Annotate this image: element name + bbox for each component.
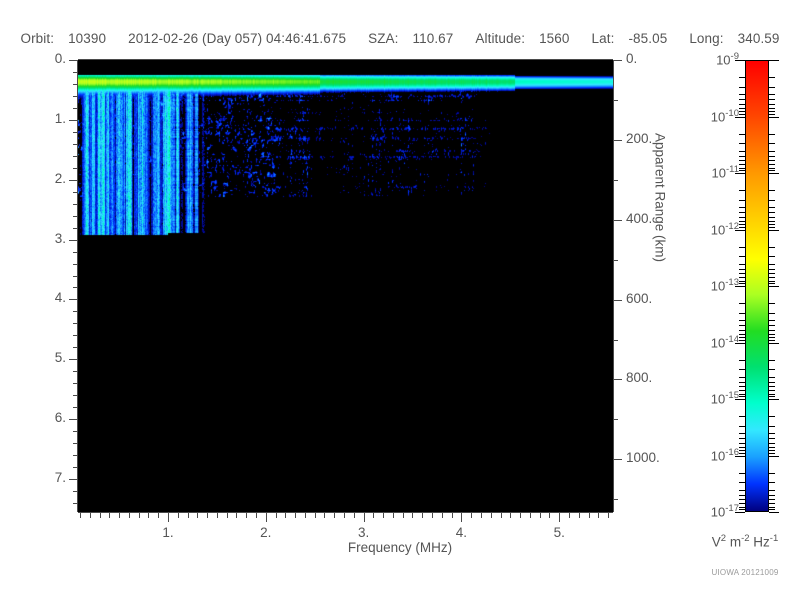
x-minor-tick — [80, 513, 81, 518]
colorbar-minor-tick-left — [739, 217, 745, 218]
x-minor-tick — [442, 513, 443, 518]
colorbar-minor-tick — [769, 482, 775, 483]
colorbar-minor-tick — [769, 200, 775, 201]
colorbar-minor-tick — [769, 503, 775, 504]
y-tick-label: 3. — [16, 231, 66, 246]
colorbar-minor-tick-left — [739, 77, 745, 78]
colorbar-minor-tick-left — [739, 394, 745, 395]
colorbar-major-tick — [769, 230, 779, 231]
x-minor-tick — [217, 513, 218, 518]
colorbar-minor-tick-left — [739, 433, 745, 434]
colorbar-minor-tick — [769, 114, 775, 115]
colorbar-minor-tick — [769, 382, 775, 383]
x-major-tick — [461, 513, 462, 522]
colorbar-minor-tick — [769, 269, 775, 270]
colorbar-minor-tick-left — [739, 221, 745, 222]
colorbar-major-tick — [769, 286, 779, 287]
colorbar-minor-tick-left — [739, 396, 745, 397]
y-minor-tick — [73, 323, 78, 324]
colorbar-minor-tick-left — [739, 325, 745, 326]
long-value: 340.59 — [738, 31, 780, 46]
colorbar-major-tick — [769, 117, 779, 118]
x-minor-tick — [148, 513, 149, 518]
colorbar-minor-tick — [769, 156, 775, 157]
colorbar-minor-tick — [769, 433, 775, 434]
colorbar-minor-tick-left — [739, 450, 745, 451]
colorbar-minor-tick-left — [739, 426, 745, 427]
x-minor-tick — [383, 513, 384, 518]
colorbar-minor-tick — [769, 277, 775, 278]
x-minor-tick — [139, 513, 140, 518]
colorbar-minor-tick-left — [739, 360, 745, 361]
colorbar-minor-tick — [769, 340, 775, 341]
y-major-tick — [69, 60, 78, 61]
colorbar-minor-tick-left — [739, 330, 745, 331]
y-tick-label: 0. — [16, 51, 66, 66]
colorbar-minor-tick — [769, 168, 775, 169]
x-minor-tick — [598, 513, 599, 518]
colorbar-tick-label: 10-14 — [683, 334, 739, 350]
x-minor-tick — [246, 513, 247, 518]
ionogram-figure: Orbit: 10390 2012-02-26 (Day 057) 04:46:… — [0, 0, 800, 600]
y-major-tick — [69, 299, 78, 300]
x-minor-tick — [432, 513, 433, 518]
colorbar-minor-tick — [769, 143, 775, 144]
x-minor-tick — [90, 513, 91, 518]
colorbar-minor-tick — [769, 394, 775, 395]
colorbar-minor-tick — [769, 247, 775, 248]
y-major-tick — [69, 479, 78, 480]
x-minor-tick — [197, 513, 198, 518]
y-minor-tick — [73, 467, 78, 468]
y2-major-tick — [613, 300, 622, 301]
y-minor-tick — [73, 264, 78, 265]
colorbar-minor-tick — [769, 447, 775, 448]
x-minor-tick — [452, 513, 453, 518]
colorbar-minor-tick-left — [739, 507, 745, 508]
x-minor-tick — [549, 513, 550, 518]
y-minor-tick — [73, 84, 78, 85]
colorbar-minor-tick — [769, 450, 775, 451]
x-minor-tick — [315, 513, 316, 518]
colorbar-tick-label: 10-16 — [683, 447, 739, 463]
colorbar-minor-tick — [769, 77, 775, 78]
colorbar-tick-label: 10-11 — [683, 164, 739, 180]
plot-border-top — [78, 59, 613, 60]
colorbar-minor-tick-left — [739, 499, 745, 500]
y-minor-tick — [73, 491, 78, 492]
colorbar-tick-label: 10-13 — [683, 277, 739, 293]
colorbar-minor-tick — [769, 256, 775, 257]
y-minor-tick — [73, 276, 78, 277]
colorbar-major-tick — [769, 173, 779, 174]
y2-major-tick — [613, 220, 622, 221]
colorbar-gradient — [746, 61, 768, 511]
colorbar-minor-tick — [769, 264, 775, 265]
colorbar-minor-tick — [769, 221, 775, 222]
colorbar-minor-tick-left — [739, 94, 745, 95]
x-minor-tick — [510, 513, 511, 518]
y2-axis-label: Apparent Range (km) — [653, 98, 668, 298]
x-minor-tick — [334, 513, 335, 518]
colorbar-minor-tick-left — [739, 227, 745, 228]
y-minor-tick — [73, 72, 78, 73]
colorbar-minor-tick-left — [739, 438, 745, 439]
colorbar-minor-tick-left — [739, 104, 745, 105]
y-minor-tick — [73, 96, 78, 97]
x-minor-tick — [178, 513, 179, 518]
colorbar-major-tick — [769, 399, 779, 400]
colorbar-unit-label: V2 m-2 Hz-1 — [690, 533, 800, 550]
x-minor-tick — [295, 513, 296, 518]
colorbar-minor-tick-left — [739, 273, 745, 274]
x-minor-tick — [579, 513, 580, 518]
x-minor-tick — [324, 513, 325, 518]
colorbar-tick-label: 10-10 — [683, 108, 739, 124]
colorbar-minor-tick-left — [739, 200, 745, 201]
y-minor-tick — [73, 287, 78, 288]
x-minor-tick — [393, 513, 394, 518]
colorbar-minor-tick-left — [739, 313, 745, 314]
colorbar-minor-tick-left — [739, 108, 745, 109]
colorbar-minor-tick — [769, 443, 775, 444]
y2-tick-label: 600. — [626, 291, 652, 306]
colorbar-minor-tick — [769, 453, 775, 454]
x-minor-tick — [403, 513, 404, 518]
colorbar-minor-tick — [769, 104, 775, 105]
colorbar-minor-tick — [769, 320, 775, 321]
colorbar-minor-tick-left — [739, 269, 745, 270]
x-tick-label: 1. — [148, 525, 188, 540]
colorbar-minor-tick — [769, 360, 775, 361]
y-tick-label: 4. — [16, 290, 66, 305]
x-minor-tick — [520, 513, 521, 518]
colorbar-minor-tick — [769, 509, 775, 510]
colorbar-minor-tick-left — [739, 156, 745, 157]
y2-tick-label: 1000. — [626, 450, 660, 465]
colorbar-minor-tick — [769, 473, 775, 474]
colorbar-minor-tick-left — [739, 281, 745, 282]
y2-major-tick — [613, 459, 622, 460]
y2-minor-tick — [613, 180, 618, 181]
y-minor-tick — [73, 311, 78, 312]
y-minor-tick — [73, 108, 78, 109]
x-minor-tick — [491, 513, 492, 518]
x-minor-tick — [501, 513, 502, 518]
x-minor-tick — [344, 513, 345, 518]
colorbar-minor-tick — [769, 217, 775, 218]
x-minor-tick — [236, 513, 237, 518]
colorbar-major-tick — [769, 456, 779, 457]
colorbar-minor-tick — [769, 490, 775, 491]
colorbar-minor-tick — [769, 99, 775, 100]
x-minor-tick — [276, 513, 277, 518]
colorbar-minor-tick-left — [739, 320, 745, 321]
colorbar-minor-tick-left — [739, 87, 745, 88]
x-minor-tick — [540, 513, 541, 518]
datetime-value: 2012-02-26 (Day 057) 04:46:41.675 — [128, 31, 346, 46]
colorbar-minor-tick-left — [739, 160, 745, 161]
colorbar-minor-tick — [769, 334, 775, 335]
y-minor-tick — [73, 371, 78, 372]
x-tick-label: 3. — [344, 525, 384, 540]
colorbar-minor-tick-left — [739, 143, 745, 144]
colorbar-minor-tick — [769, 273, 775, 274]
colorbar-minor-tick — [769, 426, 775, 427]
colorbar-minor-tick — [769, 313, 775, 314]
plot-border-left — [77, 60, 78, 512]
y-tick-label: 5. — [16, 350, 66, 365]
colorbar-minor-tick-left — [739, 224, 745, 225]
colorbar-minor-tick-left — [739, 247, 745, 248]
y-minor-tick — [73, 431, 78, 432]
colorbar-minor-tick-left — [739, 447, 745, 448]
y2-major-tick — [613, 140, 622, 141]
colorbar-minor-tick-left — [739, 473, 745, 474]
colorbar-minor-tick — [769, 330, 775, 331]
colorbar-minor-tick-left — [739, 168, 745, 169]
x-major-tick — [559, 513, 560, 522]
y-minor-tick — [73, 335, 78, 336]
x-minor-tick — [530, 513, 531, 518]
colorbar-minor-tick — [769, 190, 775, 191]
orbit-value: 10390 — [68, 31, 106, 46]
colorbar-tick-label: 10-12 — [683, 221, 739, 237]
colorbar-minor-tick — [769, 227, 775, 228]
x-minor-tick — [569, 513, 570, 518]
colorbar-minor-tick-left — [739, 482, 745, 483]
ionogram-heatmap — [78, 60, 613, 512]
y-minor-tick — [73, 156, 78, 157]
x-tick-label: 5. — [539, 525, 579, 540]
x-major-tick — [266, 513, 267, 522]
x-major-tick — [364, 513, 365, 522]
colorbar-minor-tick — [769, 151, 775, 152]
colorbar-tick-label: 10-15 — [683, 390, 739, 406]
colorbar-minor-tick — [769, 164, 775, 165]
colorbar-minor-tick-left — [739, 114, 745, 115]
altitude-label: Altitude: — [475, 31, 525, 46]
colorbar-minor-tick — [769, 94, 775, 95]
colorbar-minor-tick — [769, 111, 775, 112]
lat-label: Lat: — [592, 31, 615, 46]
colorbar-minor-tick — [769, 212, 775, 213]
x-minor-tick — [100, 513, 101, 518]
x-minor-tick — [422, 513, 423, 518]
x-minor-tick — [119, 513, 120, 518]
colorbar-major-tick — [769, 343, 779, 344]
x-minor-tick — [373, 513, 374, 518]
colorbar-minor-tick-left — [739, 443, 745, 444]
colorbar-minor-tick-left — [739, 337, 745, 338]
colorbar-minor-tick-left — [739, 416, 745, 417]
colorbar-minor-tick-left — [739, 134, 745, 135]
y-minor-tick — [73, 216, 78, 217]
colorbar-minor-tick-left — [739, 164, 745, 165]
y-minor-tick — [73, 443, 78, 444]
colorbar-minor-tick-left — [739, 303, 745, 304]
colorbar-minor-tick-left — [739, 386, 745, 387]
y2-minor-tick — [613, 100, 618, 101]
colorbar-minor-tick — [769, 390, 775, 391]
colorbar-minor-tick — [769, 507, 775, 508]
colorbar-minor-tick — [769, 108, 775, 109]
colorbar-minor-tick-left — [739, 151, 745, 152]
y-major-tick — [69, 180, 78, 181]
y-tick-label: 6. — [16, 410, 66, 425]
colorbar-minor-tick-left — [739, 277, 745, 278]
sza-value: 110.67 — [413, 31, 454, 46]
y-tick-label: 2. — [16, 171, 66, 186]
x-minor-tick — [109, 513, 110, 518]
x-tick-label: 2. — [246, 525, 286, 540]
y2-tick-label: 200. — [626, 131, 652, 146]
colorbar-minor-tick-left — [739, 377, 745, 378]
x-minor-tick — [481, 513, 482, 518]
y2-minor-tick — [613, 260, 618, 261]
colorbar-minor-tick-left — [739, 509, 745, 510]
colorbar-minor-tick — [769, 369, 775, 370]
colorbar-minor-tick-left — [739, 503, 745, 504]
y-minor-tick — [73, 455, 78, 456]
y2-tick-label: 400. — [626, 211, 652, 226]
colorbar-minor-tick-left — [739, 340, 745, 341]
y-major-tick — [69, 359, 78, 360]
colorbar-minor-tick-left — [739, 256, 745, 257]
x-minor-tick — [354, 513, 355, 518]
colorbar-minor-tick — [769, 495, 775, 496]
colorbar — [745, 60, 769, 512]
y-minor-tick — [73, 252, 78, 253]
colorbar-minor-tick-left — [739, 190, 745, 191]
colorbar-minor-tick — [769, 283, 775, 284]
colorbar-minor-tick — [769, 134, 775, 135]
x-minor-tick — [412, 513, 413, 518]
y-minor-tick — [73, 228, 78, 229]
long-label: Long: — [689, 31, 723, 46]
x-major-tick — [168, 513, 169, 522]
x-minor-tick — [227, 513, 228, 518]
colorbar-minor-tick — [769, 224, 775, 225]
colorbar-minor-tick-left — [739, 111, 745, 112]
y2-minor-tick — [613, 499, 618, 500]
y-minor-tick — [73, 407, 78, 408]
x-minor-tick — [256, 513, 257, 518]
colorbar-major-tick — [769, 512, 779, 513]
colorbar-minor-tick-left — [739, 264, 745, 265]
colorbar-minor-tick-left — [739, 334, 745, 335]
y-major-tick — [69, 419, 78, 420]
y-minor-tick — [73, 395, 78, 396]
x-axis-label: Frequency (MHz) — [0, 540, 800, 555]
x-minor-tick — [305, 513, 306, 518]
figure-header: Orbit: 10390 2012-02-26 (Day 057) 04:46:… — [0, 28, 800, 48]
credit-label: UIOWA 20121009 — [690, 568, 800, 577]
orbit-label: Orbit: — [20, 31, 54, 46]
y-minor-tick — [73, 503, 78, 504]
y-minor-tick — [73, 347, 78, 348]
x-minor-tick — [608, 513, 609, 518]
colorbar-tick-label: 10-17 — [683, 503, 739, 519]
colorbar-minor-tick-left — [739, 390, 745, 391]
y-tick-label: 7. — [16, 470, 66, 485]
colorbar-minor-tick — [769, 160, 775, 161]
y-minor-tick — [73, 132, 78, 133]
x-minor-tick — [471, 513, 472, 518]
colorbar-minor-tick-left — [739, 170, 745, 171]
y2-tick-label: 800. — [626, 370, 652, 385]
y-minor-tick — [73, 192, 78, 193]
colorbar-minor-tick — [769, 377, 775, 378]
y-minor-tick — [73, 144, 78, 145]
plot-border-right — [613, 60, 614, 512]
sza-label: SZA: — [368, 31, 398, 46]
colorbar-minor-tick — [769, 170, 775, 171]
y-minor-tick — [73, 383, 78, 384]
colorbar-minor-tick-left — [739, 99, 745, 100]
y2-tick-label: 0. — [626, 51, 637, 66]
ionogram-plot-area — [78, 60, 613, 512]
x-minor-tick — [129, 513, 130, 518]
y2-minor-tick — [613, 340, 618, 341]
y-major-tick — [69, 120, 78, 121]
colorbar-minor-tick — [769, 499, 775, 500]
colorbar-minor-tick — [769, 337, 775, 338]
colorbar-minor-tick-left — [739, 453, 745, 454]
colorbar-minor-tick-left — [739, 495, 745, 496]
colorbar-major-tick — [769, 60, 779, 61]
colorbar-minor-tick — [769, 281, 775, 282]
x-tick-label: 4. — [441, 525, 481, 540]
x-minor-tick — [207, 513, 208, 518]
x-minor-tick — [285, 513, 286, 518]
colorbar-minor-tick — [769, 386, 775, 387]
y-minor-tick — [73, 168, 78, 169]
colorbar-minor-tick — [769, 87, 775, 88]
colorbar-minor-tick-left — [739, 490, 745, 491]
x-minor-tick — [188, 513, 189, 518]
colorbar-minor-tick-left — [739, 382, 745, 383]
colorbar-minor-tick — [769, 396, 775, 397]
colorbar-minor-tick-left — [739, 212, 745, 213]
colorbar-minor-tick — [769, 303, 775, 304]
y-tick-label: 1. — [16, 111, 66, 126]
colorbar-tick-label: 10-9 — [683, 51, 739, 67]
altitude-value: 1560 — [539, 31, 569, 46]
lat-value: -85.05 — [628, 31, 667, 46]
colorbar-minor-tick — [769, 416, 775, 417]
colorbar-minor-tick-left — [739, 207, 745, 208]
x-minor-tick — [158, 513, 159, 518]
colorbar-minor-tick — [769, 438, 775, 439]
colorbar-minor-tick-left — [739, 283, 745, 284]
x-minor-tick — [589, 513, 590, 518]
colorbar-minor-tick — [769, 325, 775, 326]
y2-major-tick — [613, 379, 622, 380]
colorbar-minor-tick — [769, 207, 775, 208]
y-major-tick — [69, 240, 78, 241]
y-minor-tick — [73, 204, 78, 205]
colorbar-minor-tick-left — [739, 369, 745, 370]
y2-minor-tick — [613, 419, 618, 420]
y2-major-tick — [613, 60, 622, 61]
